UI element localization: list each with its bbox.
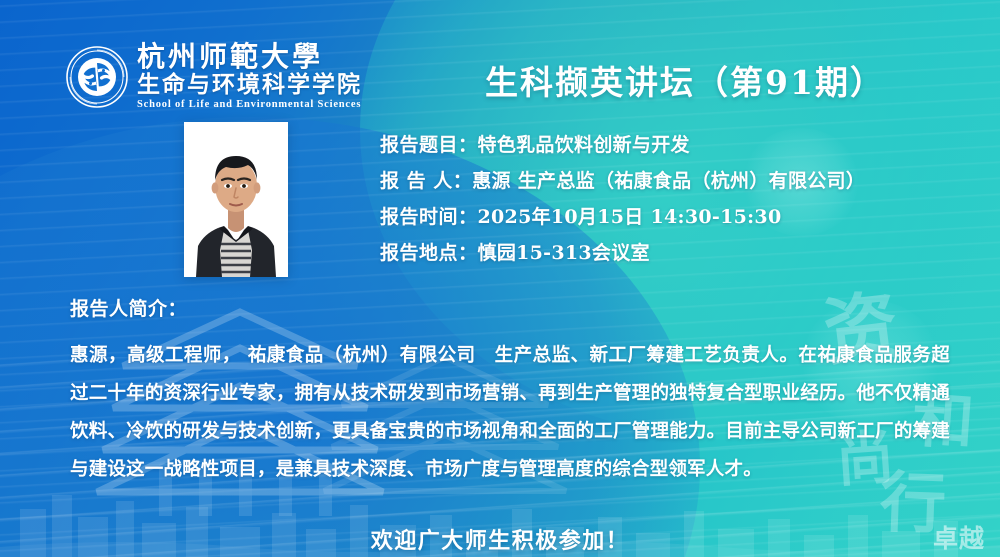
info-row-topic: 报告题目： 特色乳品饮料创新与开发: [380, 136, 960, 155]
logo-text-block: 杭州师範大學 生命与环境科学学院 School of Life and Envi…: [137, 42, 362, 112]
info-label-topic: 报告题目：: [380, 136, 478, 155]
seminar-info-list: 报告题目： 特色乳品饮料创新与开发 报 告 人： 惠源 生产总监（祐康食品（杭州…: [380, 136, 960, 280]
footer-call-to-action: 欢迎广大师生积极参加！: [0, 523, 1000, 555]
info-label-time: 报告时间：: [380, 208, 478, 227]
university-logo: 杭州师範大學 生命与环境科学学院 School of Life and Envi…: [66, 42, 362, 112]
poster-header: 杭州师範大學 生命与环境科学学院 School of Life and Envi…: [0, 0, 1000, 112]
bio-paragraph: 惠源，高级工程师， 祐康食品（杭州）有限公司 生产总监、新工厂筹建工艺负责人。在…: [70, 337, 950, 489]
info-label-speaker: 报 告 人：: [380, 172, 472, 191]
seminar-poster: 资 和 尚 行 杭州师範大學 生: [0, 0, 1000, 557]
poster-title: 生科撷英讲坛（第91期）: [450, 56, 920, 104]
university-name-cn: 杭州师範大學: [137, 42, 362, 72]
speaker-bio-section: 报告人简介： 惠源，高级工程师， 祐康食品（杭州）有限公司 生产总监、新工厂筹建…: [70, 294, 950, 489]
info-value-speaker: 惠源 生产总监（祐康食品（杭州）有限公司）: [472, 172, 865, 191]
speaker-portrait-image: [184, 122, 288, 277]
info-value-location: 慎园15-313会议室: [478, 244, 650, 263]
university-crest-icon: [66, 46, 128, 108]
corner-badge: 卓越: [932, 526, 986, 552]
bio-heading: 报告人简介：: [70, 294, 950, 321]
speaker-photo: [184, 122, 288, 277]
info-row-location: 报告地点： 慎园15-313会议室: [380, 244, 960, 263]
info-row-time: 报告时间： 2025年10月15日 14:30-15:30: [380, 208, 960, 227]
college-name-cn: 生命与环境科学学院: [137, 72, 362, 97]
info-value-time: 2025年10月15日 14:30-15:30: [478, 208, 782, 227]
info-label-location: 报告地点：: [380, 244, 478, 263]
info-value-topic: 特色乳品饮料创新与开发: [478, 136, 690, 155]
info-row-speaker: 报 告 人： 惠源 生产总监（祐康食品（杭州）有限公司）: [380, 172, 960, 191]
college-name-en: School of Life and Environmental Science…: [137, 99, 362, 112]
